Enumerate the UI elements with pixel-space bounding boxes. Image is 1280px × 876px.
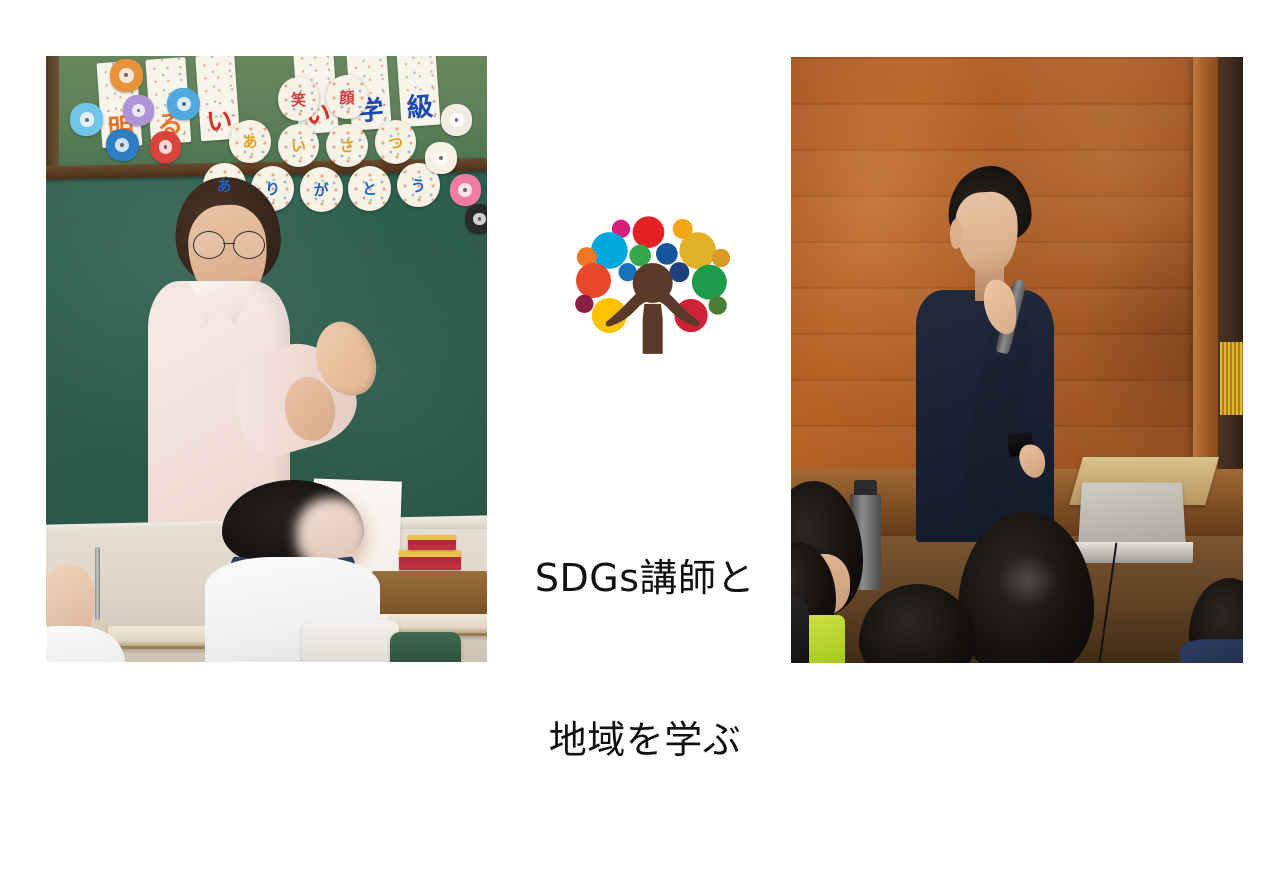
chair-back [390, 632, 461, 662]
hair-highlight [999, 554, 1058, 609]
speaker-face [954, 191, 1021, 277]
curtain-strip [1220, 342, 1243, 415]
slide-caption: SDGs講師と 地域を学ぶ [505, 444, 785, 876]
classroom-lesson-photo: 明 る い い 学 級 笑 [46, 56, 487, 662]
logo-svg [541, 198, 741, 373]
mic-stand [95, 547, 100, 620]
origami-flower [123, 95, 154, 125]
book-stack [399, 550, 461, 571]
audience-shoulder [791, 596, 809, 663]
caption-line-2: 地域を学ぶ [505, 714, 785, 768]
chair-back [302, 620, 399, 662]
message-card: い [278, 124, 320, 168]
message-card: あ [203, 163, 246, 208]
origami-flower [167, 88, 200, 121]
message-card: と [348, 166, 391, 211]
sdgs-tree-person-logo [541, 198, 741, 373]
speaker-ear [950, 219, 962, 249]
message-card: つ [375, 120, 417, 164]
caption-line-1: SDGs講師と [505, 552, 785, 606]
message-card: あ [229, 120, 271, 164]
origami-flower [110, 59, 143, 92]
message-card: 笑 [278, 77, 320, 121]
origami-flower [150, 131, 182, 163]
audience-shoulder [1180, 639, 1243, 663]
message-card: り [251, 166, 294, 211]
message-card: さ [326, 124, 368, 168]
slide-canvas: 明 る い い 学 級 笑 [0, 0, 1280, 720]
teacher-desk [372, 571, 487, 613]
wall-dark-edge [1218, 57, 1243, 530]
origami-flower [70, 103, 103, 136]
message-card: う [397, 163, 440, 208]
hall-photo-content [791, 57, 1243, 663]
speaker-figure [904, 166, 1112, 542]
glasses-icon [193, 231, 264, 257]
message-card: 顔 [326, 75, 368, 119]
origami-flower [106, 129, 139, 162]
classroom-photo-content: 明 る い い 学 級 笑 [46, 56, 487, 662]
board-left-frame [46, 56, 59, 171]
origami-flower [465, 204, 487, 233]
message-card: が [300, 167, 343, 212]
banner-letter: 級 [399, 93, 441, 122]
origami-flower [450, 174, 482, 206]
origami-flower [441, 104, 473, 136]
laptop-base [1071, 542, 1193, 563]
hall-lecture-photo [791, 57, 1243, 663]
book-stack [408, 535, 457, 551]
